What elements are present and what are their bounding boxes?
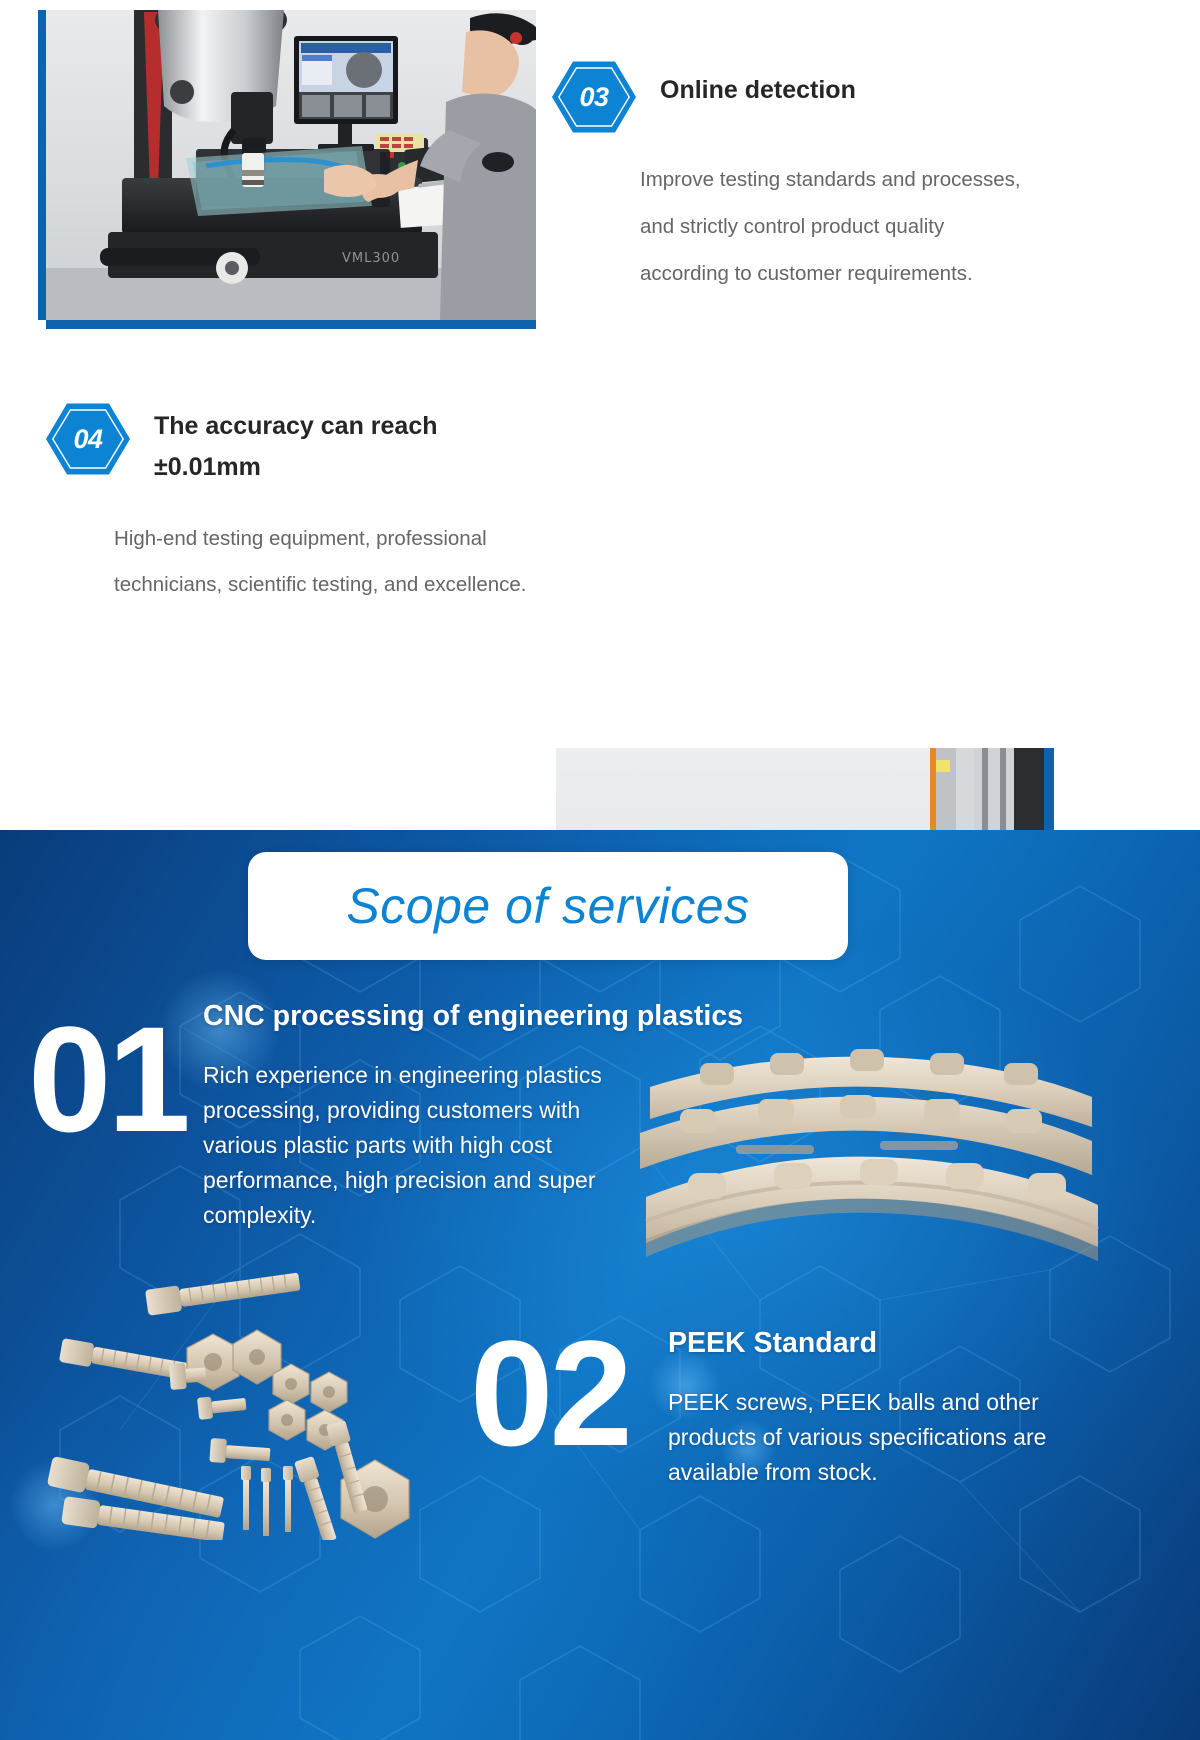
hexagon-badge-icon: 03 (552, 60, 636, 134)
features-section: VML300 (0, 0, 1200, 830)
feature-04-text: 04 The accuracy can reach ±0.01mm High-e… (46, 402, 566, 608)
scope-of-services-banner: Scope of services (248, 852, 848, 960)
hexagon-badge-number: 04 (46, 402, 130, 476)
hexagon-badge-icon: 04 (46, 402, 130, 476)
banner-title: Scope of services (346, 877, 749, 935)
service-01-product-image (640, 1035, 1100, 1275)
feature-row-03: VML300 (0, 0, 1200, 370)
feature-03-photo: VML300 (46, 10, 536, 320)
feature-04-title: The accuracy can reach ±0.01mm (154, 402, 534, 488)
feature-03-heading-row: 03 Online detection (552, 60, 1152, 134)
service-01-body: Rich experience in engineering plastics … (203, 1058, 633, 1233)
service-01-title: CNC processing of engineering plastics (203, 1000, 743, 1033)
service-02-product-image (45, 1270, 465, 1540)
service-01-number: 01 (28, 1004, 187, 1154)
feature-03-title: Online detection (660, 60, 856, 111)
feature-row-04: 04 The accuracy can reach ±0.01mm High-e… (0, 370, 1200, 730)
feature-03-photo-frame: VML300 (46, 10, 536, 320)
svg-text:VML300: VML300 (342, 251, 400, 266)
feature-03-text: 03 Online detection Improve testing stan… (552, 60, 1152, 297)
feature-04-heading-row: 04 The accuracy can reach ±0.01mm (46, 402, 566, 488)
service-02-title: PEEK Standard (668, 1327, 877, 1360)
service-02-number: 02 (470, 1318, 629, 1468)
feature-04-body: High-end testing equipment, professional… (114, 516, 554, 608)
feature-03-body: Improve testing standards and processes,… (640, 156, 1030, 297)
frame-accent-bottom (46, 320, 536, 329)
hexagon-badge-number: 03 (552, 60, 636, 134)
service-02-body: PEEK screws, PEEK balls and other produc… (668, 1385, 1088, 1490)
